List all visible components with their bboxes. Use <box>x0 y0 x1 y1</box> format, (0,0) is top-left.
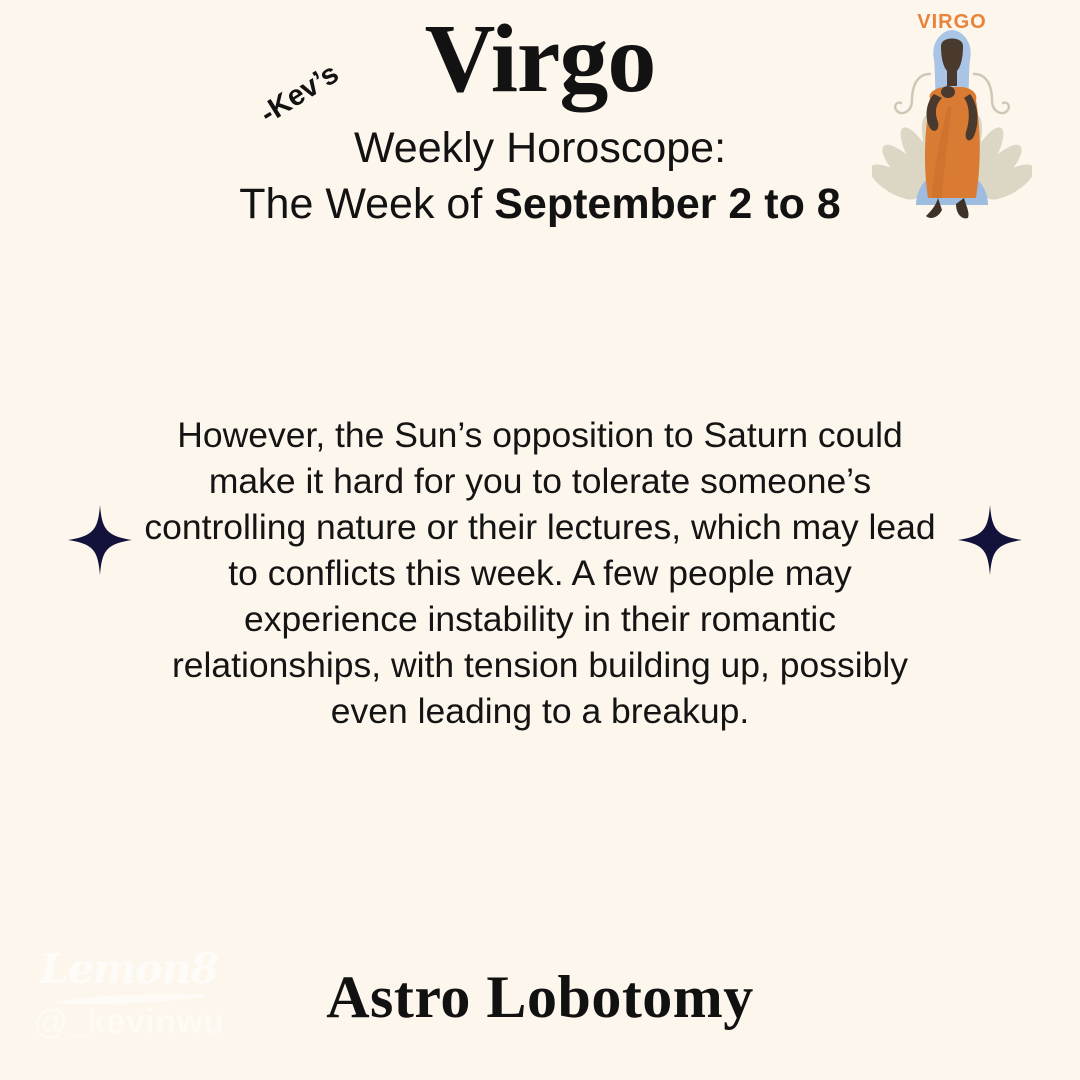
four-point-star-right <box>958 505 1022 575</box>
four-point-star-left <box>68 505 132 575</box>
virgo-label-text: VIRGO <box>917 12 986 33</box>
date-prefix-label: The Week of <box>239 180 494 228</box>
virgo-illustration-svg: VIRGO <box>872 12 1032 227</box>
date-range-label: September 2 to 8 <box>494 180 841 228</box>
virgo-illustration: VIRGO <box>872 12 1032 227</box>
horoscope-body-text: However, the Sun’s opposition to Saturn … <box>140 412 940 734</box>
sparkle-icon-right <box>958 505 1022 575</box>
poster-canvas: Virgo -Kev’s Weekly Horoscope: The Week … <box>0 0 1080 1080</box>
sparkle-icon-left <box>68 505 132 575</box>
neck-icon <box>947 70 957 86</box>
hands-icon <box>941 86 955 98</box>
brand-name: Astro Lobotomy <box>0 963 1080 1032</box>
